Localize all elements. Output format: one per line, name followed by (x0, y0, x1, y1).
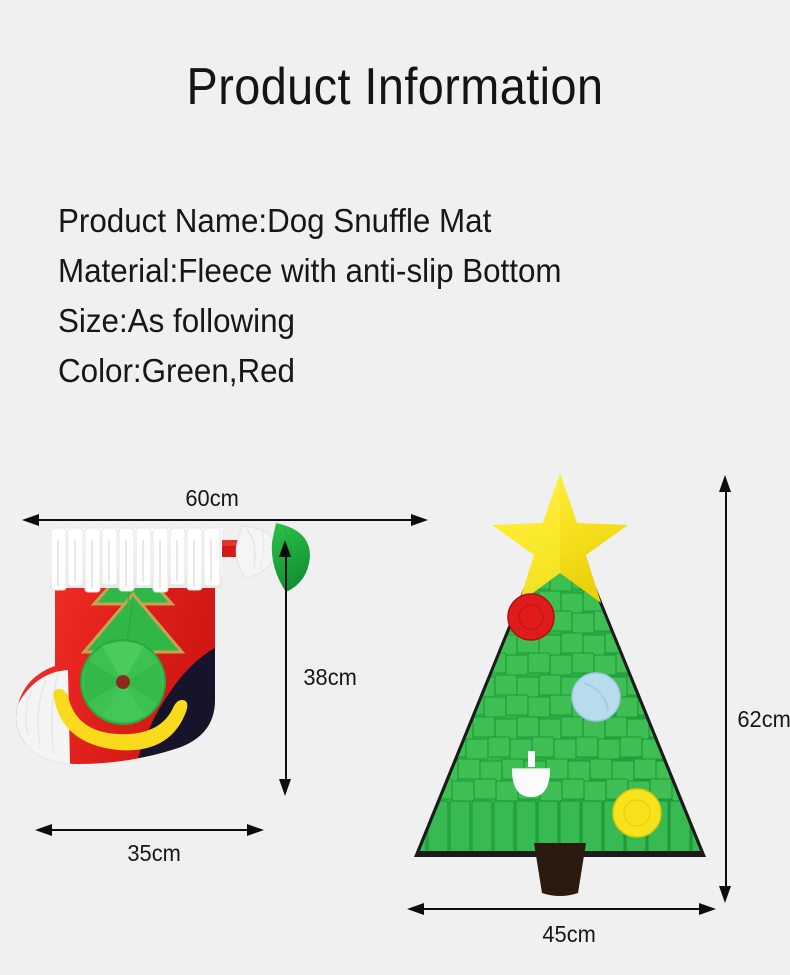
dimension-line-38cm (285, 553, 287, 781)
spec-material: Material:Fleece with anti-slip Bottom (58, 246, 742, 296)
dimension-label-35cm: 35cm (127, 840, 180, 866)
spec-product-name: Product Name:Dog Snuffle Mat (58, 196, 742, 246)
ornament-red-icon (508, 594, 554, 640)
arrow-up-38cm (279, 540, 291, 557)
ornament-blue-icon (572, 673, 620, 721)
dimension-line-35cm (48, 829, 250, 831)
spec-size: Size:As following (58, 296, 742, 346)
stocking-cuff (50, 528, 222, 592)
arrow-right-35cm (247, 824, 264, 836)
dimension-label-62cm: 62cm (737, 706, 790, 732)
arrow-down-38cm (279, 779, 291, 796)
stocking-white-fan (236, 526, 278, 578)
arrow-down-62cm (719, 886, 731, 903)
dimension-label-38cm: 38cm (303, 664, 356, 690)
stocking-product-photo (10, 520, 310, 830)
product-spec-list: Product Name:Dog Snuffle Mat Material:Fl… (58, 196, 778, 396)
dimension-line-60cm (33, 519, 423, 521)
product-information-page: Product Information Product Name:Dog Snu… (0, 0, 790, 975)
tree-trunk (534, 843, 586, 896)
tree-product-photo (400, 465, 720, 905)
dimension-label-60cm: 60cm (185, 485, 238, 511)
dimension-line-45cm (420, 908, 702, 910)
page-title: Product Information (40, 56, 751, 118)
dimension-line-62cm (725, 488, 727, 888)
arrow-right-45cm (699, 903, 716, 915)
stocking-rosette (81, 640, 165, 724)
stocking-green-fan (272, 523, 310, 592)
dimension-label-45cm: 45cm (542, 921, 595, 947)
ornament-yellow-icon (613, 789, 661, 837)
arrow-left-45cm (407, 903, 424, 915)
arrow-up-62cm (719, 475, 731, 492)
arrow-left-35cm (35, 824, 52, 836)
spec-color: Color:Green,Red (58, 346, 742, 396)
arrow-left-60cm (22, 514, 39, 526)
